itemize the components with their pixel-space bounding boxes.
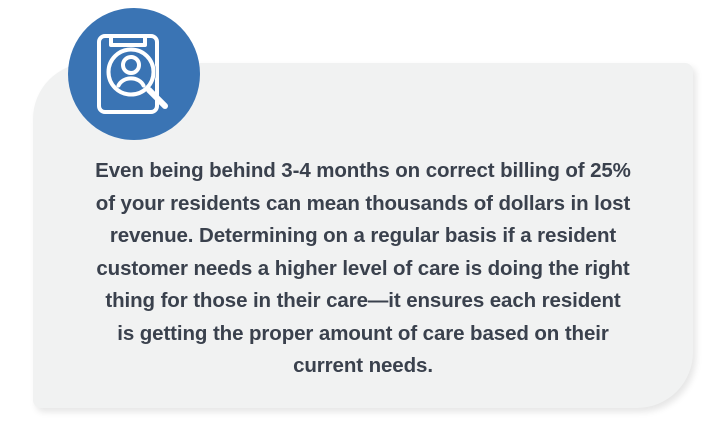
callout-text-line: of your residents can mean thousands of …: [55, 188, 671, 221]
callout-text-line: current needs.: [55, 350, 671, 383]
resident-record-search-icon: [95, 30, 173, 118]
callout-text-line: is getting the proper amount of care bas…: [55, 318, 671, 351]
callout-text-line: thing for those in their care—it ensures…: [55, 285, 671, 318]
callout-text-line: revenue. Determining on a regular basis …: [55, 220, 671, 253]
callout-text-block: Even being behind 3-4 months on correct …: [33, 155, 693, 383]
callout-stage: Even being behind 3-4 months on correct …: [0, 0, 718, 423]
callout-text-line: Even being behind 3-4 months on correct …: [55, 155, 671, 188]
resident-record-search-icon-badge: [68, 8, 200, 140]
callout-text-line: customer needs a higher level of care is…: [55, 253, 671, 286]
